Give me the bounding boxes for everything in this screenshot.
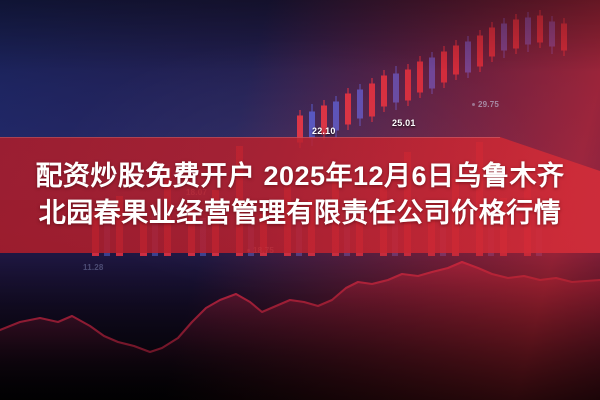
label-dot-icon bbox=[472, 103, 475, 106]
promo-banner-image: 22.10 25.01 29.75 18.07 18.75 11.28 配资炒股… bbox=[0, 0, 600, 400]
headline-line-2: 北园春果业经营管理有限责任公司价格行情 bbox=[39, 195, 562, 232]
price-label-2501: 25.01 bbox=[392, 118, 416, 128]
price-label-2975: 29.75 bbox=[472, 100, 499, 109]
price-label-1128: 11.28 bbox=[83, 263, 104, 272]
banner-top-rule bbox=[0, 137, 500, 138]
headline-banner: 配资炒股免费开户 2025年12月6日乌鲁木齐 北园春果业经营管理有限责任公司价… bbox=[0, 137, 600, 253]
headline-line-1: 配资炒股免费开户 2025年12月6日乌鲁木齐 bbox=[35, 158, 564, 195]
price-label-2210: 22.10 bbox=[312, 126, 336, 136]
